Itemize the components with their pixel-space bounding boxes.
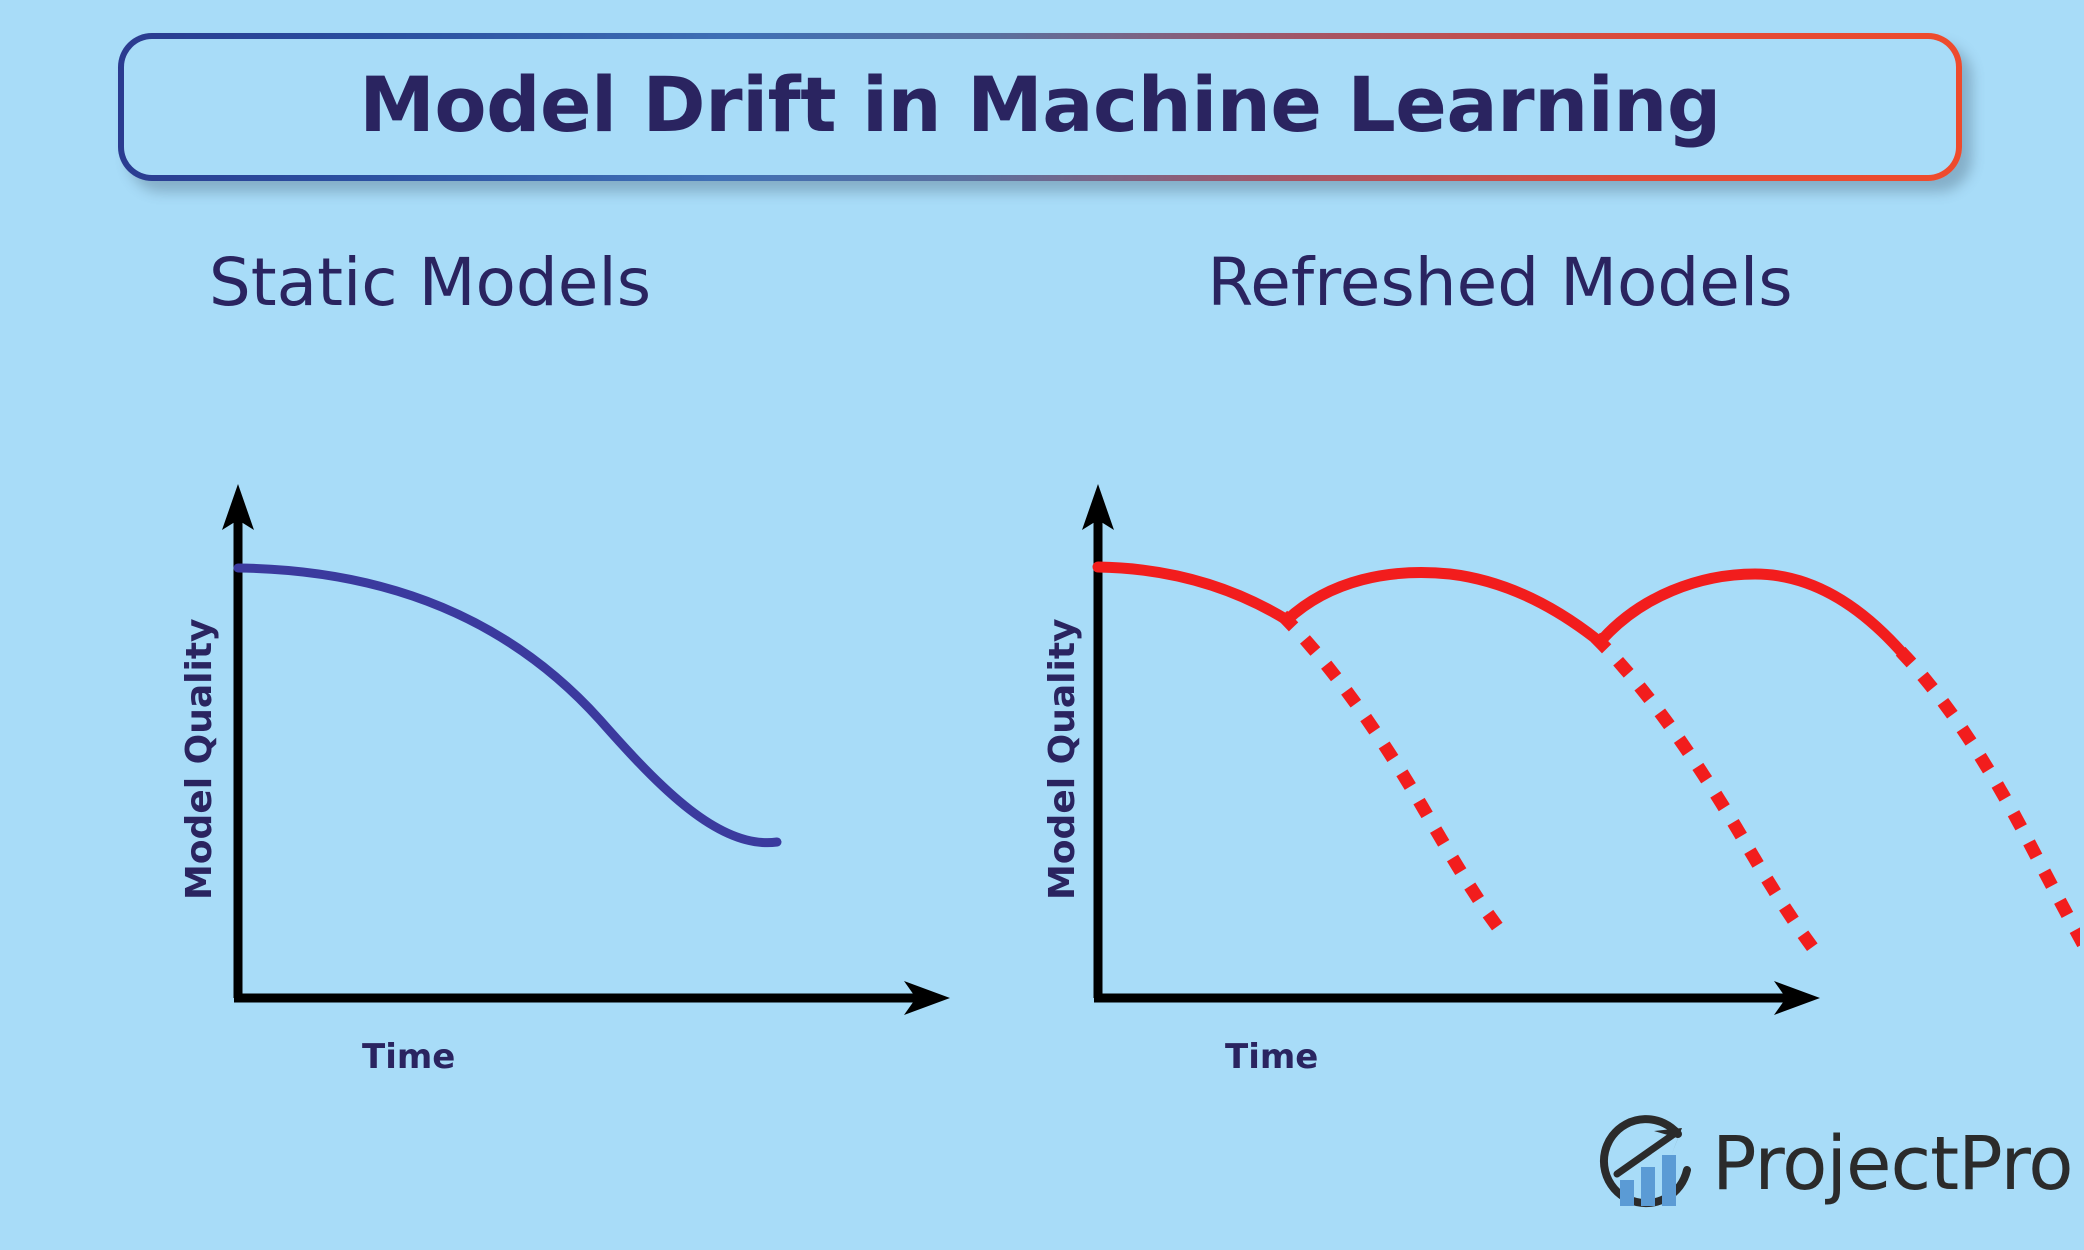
infographic-canvas: Model Drift in Machine Learning Static M… <box>0 0 2084 1250</box>
logo-bar-3 <box>1662 1155 1676 1206</box>
y-axis-refreshed <box>1082 484 1114 998</box>
y-axis-label-refreshed: Model Quality <box>1045 619 1081 901</box>
projectpro-wordmark: ProjectPro <box>1712 1127 2073 1201</box>
refresh-arc-1 <box>1098 567 1287 620</box>
chart-static-models <box>150 470 980 1030</box>
decay-branch-3 <box>1905 656 2080 942</box>
panel-heading-refreshed-models: Refreshed Models <box>1040 250 1960 316</box>
refresh-arc-2 <box>1287 573 1600 642</box>
x-axis-refreshed <box>1094 981 1820 1015</box>
logo-bar-2 <box>1641 1167 1655 1206</box>
page-title: Model Drift in Machine Learning <box>359 67 1721 143</box>
static-models-plot <box>150 470 980 1030</box>
x-axis-label-refreshed: Time <box>1225 1040 1318 1074</box>
x-axis-static <box>234 981 950 1015</box>
static-decay-curve-tail <box>238 568 777 851</box>
projectpro-chart-circle-icon <box>1592 1112 1702 1222</box>
title-card-inner: Model Drift in Machine Learning <box>124 39 1956 175</box>
chart-refreshed-models <box>1010 470 2080 1030</box>
y-axis-static <box>222 484 254 998</box>
projectpro-logo[interactable]: ProjectPro <box>1592 1112 2073 1222</box>
y-axis-label-static: Model Quality <box>182 619 218 901</box>
static-decay-curve <box>238 568 777 843</box>
logo-bar-1 <box>1620 1180 1634 1206</box>
refresh-arc-3 <box>1600 574 1905 656</box>
decay-branch-1 <box>1287 620 1494 922</box>
refreshed-models-plot <box>1010 470 2080 1030</box>
panel-heading-static-models: Static Models <box>0 250 860 316</box>
x-axis-label-static: Time <box>362 1040 455 1074</box>
title-card: Model Drift in Machine Learning <box>118 33 1962 181</box>
decay-branch-2 <box>1600 642 1810 944</box>
